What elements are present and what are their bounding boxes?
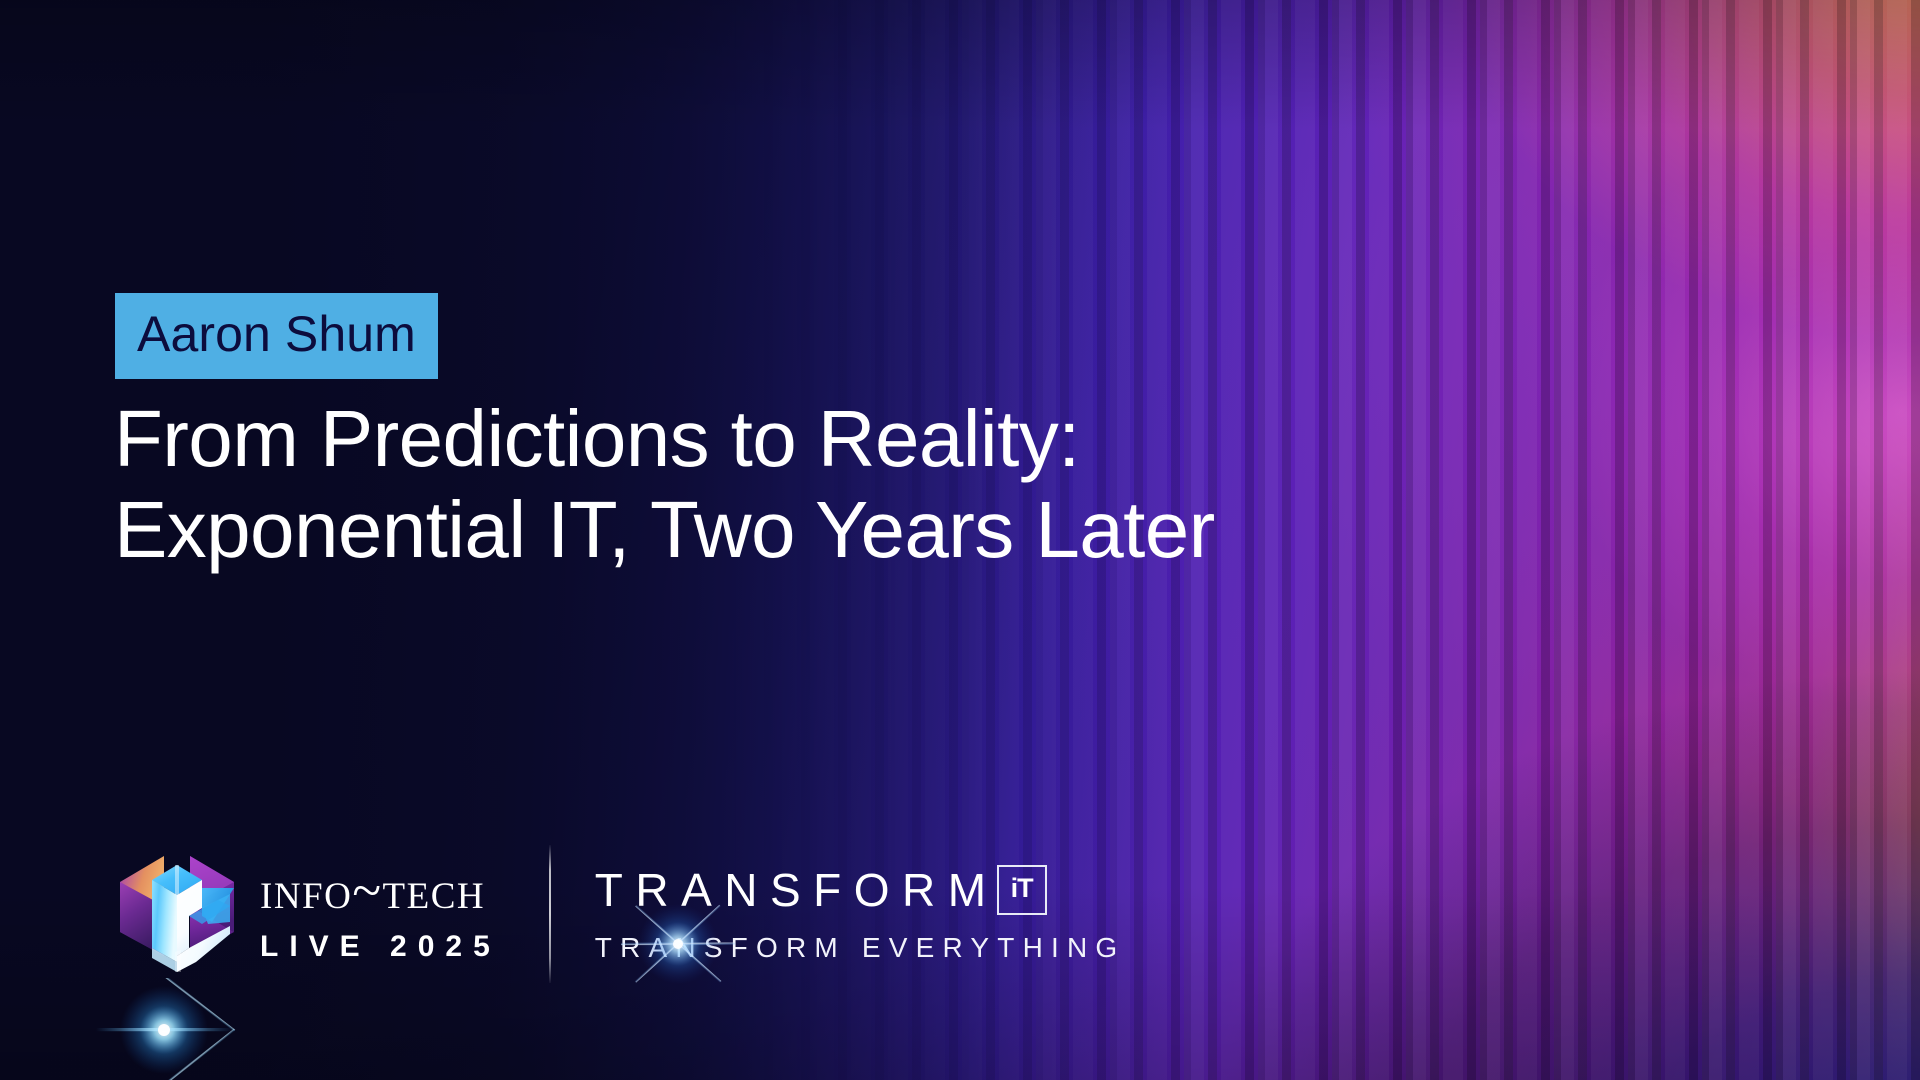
lockup-divider — [549, 845, 551, 983]
transform-title-row: TRANSFORM iT — [595, 865, 1126, 915]
info-tech-brand-name: Info~Tech — [260, 865, 501, 918]
info-tech-wordmark: Info~Tech LIVE 2025 — [260, 865, 501, 964]
speaker-name-label: Aaron Shum — [137, 309, 416, 359]
session-title: From Predictions to Reality: Exponential… — [114, 393, 1464, 575]
speaker-name-badge: Aaron Shum — [115, 293, 438, 379]
footer-logo-lockup: Info~Tech LIVE 2025 TRANSFORM iT — [112, 844, 1125, 984]
slide-content: Aaron Shum From Predictions to Reality: … — [0, 0, 1920, 1080]
session-title-line-1: From Predictions to Reality: — [114, 393, 1464, 484]
transform-tagline: TRANSFORM EVERYTHING — [595, 934, 1126, 962]
info-tech-cube-logo — [112, 844, 242, 984]
info-tech-event-subtitle: LIVE 2025 — [260, 932, 501, 962]
logo-lens-flare-icon — [94, 978, 244, 1080]
title-slide: Aaron Shum From Predictions to Reality: … — [0, 0, 1920, 1080]
transform-brand-name: TRANSFORM — [595, 867, 999, 913]
it-badge-icon: iT — [997, 865, 1047, 915]
session-title-line-2: Exponential IT, Two Years Later — [114, 484, 1464, 575]
it-badge-glyph: iT — [997, 865, 1047, 915]
transform-wordmark: TRANSFORM iT — [595, 865, 1126, 964]
